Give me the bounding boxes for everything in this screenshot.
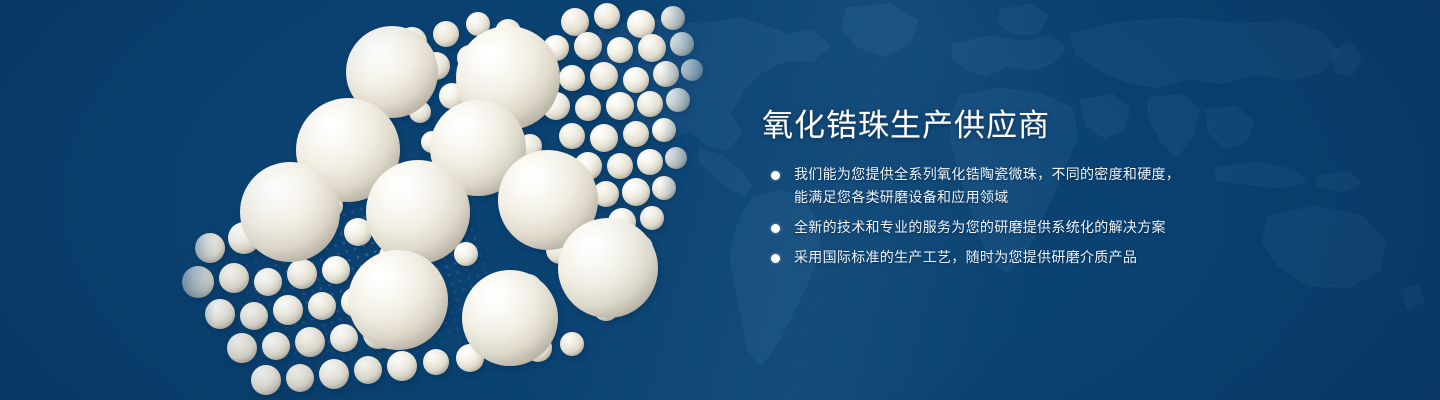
bullet-item-1: 我们能为您提供全系列氧化锆陶瓷微珠，不同的密度和硬度， 能满足您各类研磨设备和应… <box>762 164 1282 210</box>
bullet-dot-icon <box>771 171 780 180</box>
halftone-texture <box>119 105 510 400</box>
banner-headline: 氧化锆珠生产供应商 <box>762 104 1282 148</box>
bullet-dot-icon <box>771 224 780 233</box>
bullet-text-3-line-1: 采用国际标准的生产工艺，随时为您提供研磨介质产品 <box>794 250 1137 266</box>
banner-bullet-list: 我们能为您提供全系列氧化锆陶瓷微珠，不同的密度和硬度， 能满足您各类研磨设备和应… <box>762 164 1282 270</box>
zirconia-beads-photo <box>0 0 760 400</box>
hero-banner: 氧化锆珠生产供应商 我们能为您提供全系列氧化锆陶瓷微珠，不同的密度和硬度， 能满… <box>0 0 1440 400</box>
bullet-text-2-line-1: 全新的技术和专业的服务为您的研磨提供系统化的解决方案 <box>794 220 1166 236</box>
banner-copy: 氧化锆珠生产供应商 我们能为您提供全系列氧化锆陶瓷微珠，不同的密度和硬度， 能满… <box>762 104 1282 277</box>
bullet-item-2: 全新的技术和专业的服务为您的研磨提供系统化的解决方案 <box>762 217 1282 240</box>
bullet-text-1-line-2: 能满足您各类研磨设备和应用领域 <box>794 187 1282 210</box>
bullet-dot-icon <box>771 254 780 263</box>
bullet-text-1-line-1: 我们能为您提供全系列氧化锆陶瓷微珠，不同的密度和硬度， <box>794 167 1180 183</box>
bullet-item-3: 采用国际标准的生产工艺，随时为您提供研磨介质产品 <box>762 247 1282 270</box>
